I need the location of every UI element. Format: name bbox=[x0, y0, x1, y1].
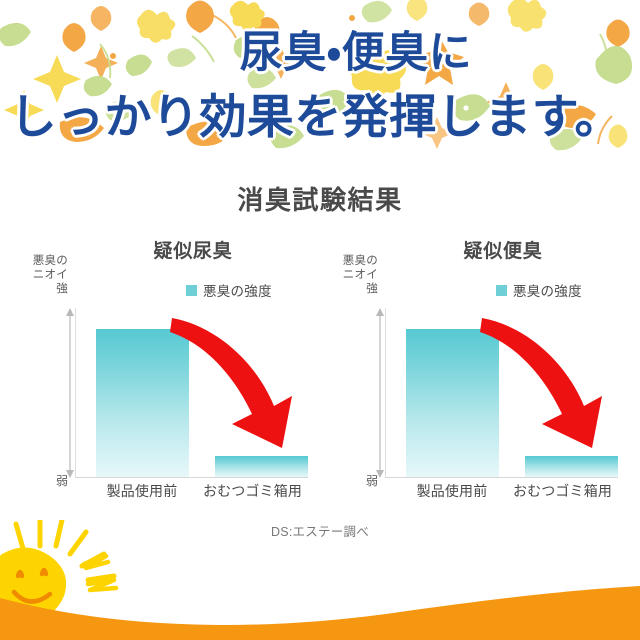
bar-diaper-bin bbox=[215, 456, 308, 477]
orange-wave-band bbox=[0, 586, 640, 640]
plot-left-rule bbox=[385, 308, 386, 478]
legend-label: 悪臭の強度 bbox=[203, 280, 272, 300]
y-axis-top-label: 悪臭の ニオイ 強 bbox=[324, 254, 378, 296]
plot-left-rule bbox=[75, 308, 76, 478]
source-footnote: DS:エステー調べ bbox=[0, 521, 640, 540]
legend-swatch-icon bbox=[496, 285, 507, 296]
category-label: おむつゴミ箱用 bbox=[490, 481, 635, 501]
y-axis-label-line-2: ニオイ bbox=[14, 268, 68, 282]
plot-area bbox=[75, 308, 308, 478]
chart-legend: 悪臭の強度 bbox=[496, 280, 582, 300]
bar-diaper-bin bbox=[525, 456, 618, 477]
y-axis-double-arrow-icon bbox=[375, 308, 385, 478]
chart-panel-urine: 疑似尿臭 悪臭の ニオイ 強 弱 悪臭の強度 製品使用前 おむつ bbox=[8, 232, 318, 512]
y-axis-label-line-3: 強 bbox=[324, 282, 378, 296]
red-down-arrow-icon bbox=[480, 316, 625, 451]
plot-area bbox=[385, 308, 618, 478]
y-axis-bottom-label: 弱 bbox=[324, 472, 378, 489]
header-headline: 尿臭・便臭に しっかり効果を発揮します。 bbox=[0, 0, 640, 162]
category-labels: 製品使用前 おむつゴミ箱用 bbox=[75, 481, 308, 503]
chart-title: 疑似便臭 bbox=[378, 236, 628, 263]
infographic-page: 尿臭・便臭に しっかり効果を発揮します。 消臭試験結果 疑似尿臭 悪臭の ニオイ… bbox=[0, 0, 640, 640]
sun-face-icon bbox=[14, 570, 50, 602]
category-label: おむつゴミ箱用 bbox=[180, 481, 325, 501]
red-down-arrow-icon bbox=[170, 316, 315, 451]
y-axis-label-line-3: 強 bbox=[14, 282, 68, 296]
y-axis-bottom-label: 弱 bbox=[14, 472, 68, 489]
y-axis-label-line-1: 悪臭の bbox=[14, 254, 68, 268]
y-axis-double-arrow-icon bbox=[65, 308, 75, 478]
y-axis-top-label: 悪臭の ニオイ 強 bbox=[14, 254, 68, 296]
chart-legend: 悪臭の強度 bbox=[186, 280, 272, 300]
page-title: 消臭試験結果 bbox=[0, 180, 640, 217]
plot-baseline bbox=[385, 477, 618, 478]
chart-title: 疑似尿臭 bbox=[68, 236, 318, 263]
legend-swatch-icon bbox=[186, 285, 197, 296]
headline-line-2: しっかり効果を発揮します。 bbox=[10, 78, 622, 147]
category-labels: 製品使用前 おむつゴミ箱用 bbox=[385, 481, 618, 503]
legend-label: 悪臭の強度 bbox=[513, 280, 582, 300]
plot-baseline bbox=[75, 477, 308, 478]
headline-line-1: 尿臭・便臭に bbox=[240, 18, 472, 80]
chart-panel-feces: 疑似便臭 悪臭の ニオイ 強 弱 悪臭の強度 製品使用前 おむつ bbox=[318, 232, 628, 512]
y-axis-label-line-2: ニオイ bbox=[324, 268, 378, 282]
header-banner: 尿臭・便臭に しっかり効果を発揮します。 bbox=[0, 0, 640, 162]
y-axis-label-line-1: 悪臭の bbox=[324, 254, 378, 268]
sun-body-icon bbox=[0, 547, 66, 622]
